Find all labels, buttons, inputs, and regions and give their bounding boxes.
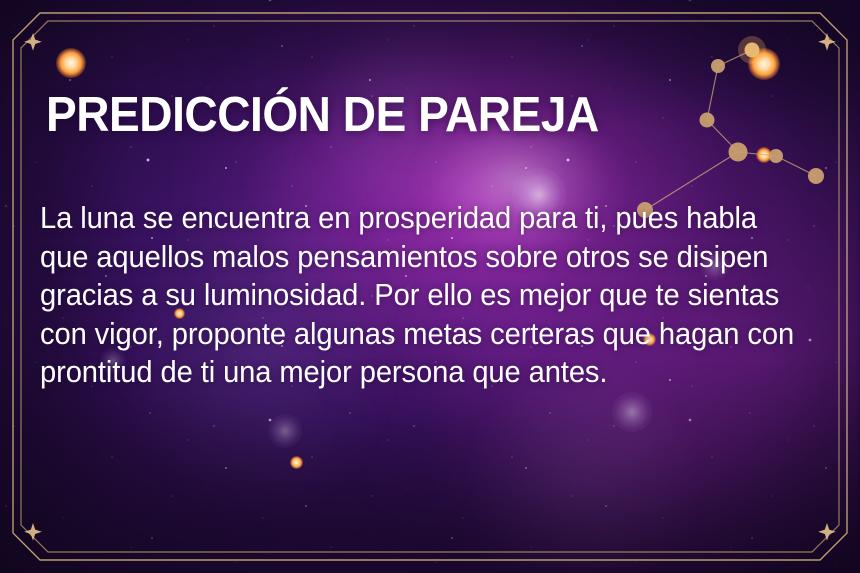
body-line: que aquellos malos pensamientos sobre ot…: [40, 238, 804, 277]
card-content: PREDICCIÓN DE PAREJA La luna se encuentr…: [0, 0, 860, 573]
body-line: con vigor, proponte algunas metas certer…: [40, 315, 804, 354]
page-title: PREDICCIÓN DE PAREJA: [46, 90, 599, 140]
horoscope-prediction-card: PREDICCIÓN DE PAREJA La luna se encuentr…: [0, 0, 860, 573]
body-line: gracias a su luminosidad. Por ello es me…: [40, 276, 804, 315]
body-line: La luna se encuentra en prosperidad para…: [40, 199, 804, 238]
prediction-body-text: La luna se encuentra en prosperidad para…: [40, 199, 804, 392]
body-line: prontitud de ti una mejor persona que an…: [40, 353, 804, 392]
